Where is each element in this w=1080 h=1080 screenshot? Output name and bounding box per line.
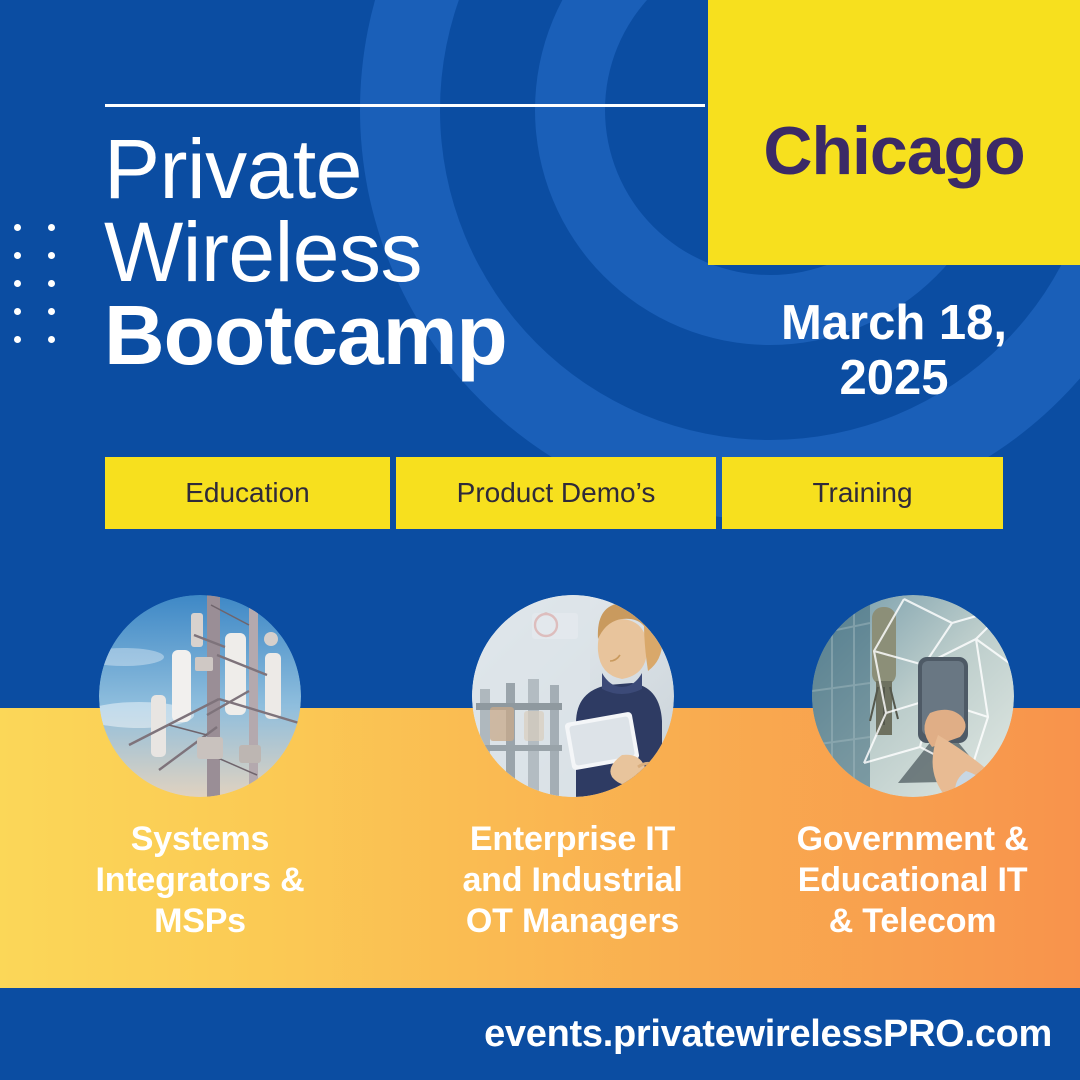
page-title: Private Wireless Bootcamp	[104, 128, 724, 377]
dot	[14, 336, 21, 343]
dot	[48, 224, 55, 231]
date-line-1: March 18,	[708, 296, 1080, 351]
dot	[14, 308, 21, 315]
footer-bar: events.privatewirelessPRO.com	[0, 988, 1080, 1080]
tag-label: Product Demo’s	[457, 477, 656, 509]
dot-grid-decoration	[14, 224, 82, 364]
feature-tag-row: Education Product Demo’s Training	[105, 457, 1003, 529]
hand-smartphone-network-mesh-photo	[812, 595, 1014, 797]
audience-label: Systems Integrators & MSPs	[96, 819, 305, 941]
cell-tower-antennas-photo	[99, 595, 301, 797]
tag-training[interactable]: Training	[722, 457, 1003, 529]
audience-item-government-education: Government & Educational IT & Telecom	[745, 595, 1080, 955]
audience-label-line-2: Educational IT	[797, 860, 1029, 901]
website-url[interactable]: events.privatewirelessPRO.com	[484, 1013, 1080, 1056]
audience-label-line-1: Government &	[797, 819, 1029, 860]
dot	[14, 252, 21, 259]
factory-worker-tablet-photo	[472, 595, 674, 797]
audience-label-line-3: MSPs	[96, 901, 305, 942]
title-divider-rule	[105, 104, 705, 107]
tag-label: Training	[812, 477, 912, 509]
tag-product-demos[interactable]: Product Demo’s	[396, 457, 716, 529]
dot	[48, 308, 55, 315]
city-badge: Chicago	[708, 0, 1080, 265]
title-line-2: Wireless	[104, 211, 724, 294]
title-line-1: Private	[104, 128, 724, 211]
audience-label-line-1: Enterprise IT	[462, 819, 682, 860]
audience-section: Systems Integrators & MSPs	[0, 595, 1080, 955]
audience-label-line-3: & Telecom	[797, 901, 1029, 942]
audience-label-line-3: OT Managers	[462, 901, 682, 942]
title-line-3: Bootcamp	[104, 294, 724, 377]
audience-label: Enterprise IT and Industrial OT Managers	[462, 819, 682, 941]
event-promo-poster: Private Wireless Bootcamp Chicago March …	[0, 0, 1080, 1080]
dot	[48, 252, 55, 259]
dot	[14, 280, 21, 287]
city-label: Chicago	[763, 76, 1024, 190]
dot	[48, 336, 55, 343]
audience-label-line-1: Systems	[96, 819, 305, 860]
tag-education[interactable]: Education	[105, 457, 390, 529]
date-line-2: 2025	[708, 351, 1080, 406]
tag-label: Education	[185, 477, 310, 509]
dot	[14, 224, 21, 231]
audience-label-line-2: and Industrial	[462, 860, 682, 901]
audience-item-systems-integrators: Systems Integrators & MSPs	[0, 595, 400, 955]
event-date: March 18, 2025	[708, 296, 1080, 406]
dot	[48, 280, 55, 287]
audience-label-line-2: Integrators &	[96, 860, 305, 901]
audience-label: Government & Educational IT & Telecom	[797, 819, 1029, 941]
audience-item-enterprise-it: Enterprise IT and Industrial OT Managers	[400, 595, 745, 955]
